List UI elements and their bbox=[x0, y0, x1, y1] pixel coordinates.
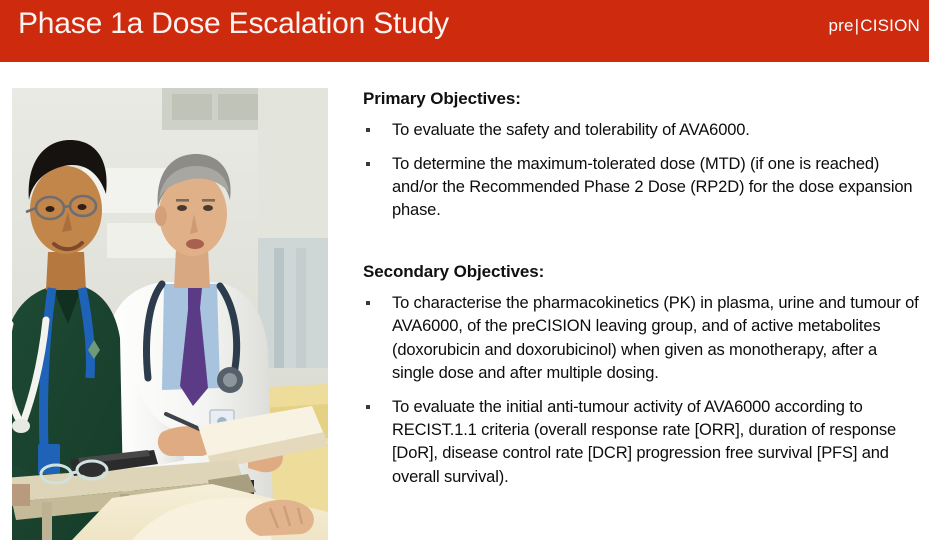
list-item: To characterise the pharmacokinetics (PK… bbox=[363, 292, 923, 386]
secondary-objectives-list: To characterise the pharmacokinetics (PK… bbox=[363, 292, 923, 489]
primary-objectives-list: To evaluate the safety and tolerability … bbox=[363, 119, 923, 223]
precision-logo: pre|CISION bbox=[828, 16, 920, 36]
page-title: Phase 1a Dose Escalation Study bbox=[18, 7, 449, 41]
secondary-objectives-heading: Secondary Objectives: bbox=[363, 261, 923, 283]
objectives-content: Primary Objectives: To evaluate the safe… bbox=[363, 88, 923, 489]
list-item: To determine the maximum-tolerated dose … bbox=[363, 153, 923, 223]
slide: Phase 1a Dose Escalation Study pre|CISIO… bbox=[0, 0, 929, 540]
slide-header: Phase 1a Dose Escalation Study pre|CISIO… bbox=[0, 0, 929, 62]
logo-suffix: CISION bbox=[860, 16, 920, 35]
logo-prefix: pre bbox=[828, 16, 853, 35]
list-item: To evaluate the initial anti-tumour acti… bbox=[363, 396, 923, 490]
list-item: To evaluate the safety and tolerability … bbox=[363, 119, 923, 142]
primary-objectives-heading: Primary Objectives: bbox=[363, 88, 923, 110]
clinical-photo-illustration bbox=[12, 88, 328, 540]
clinical-photo bbox=[12, 88, 328, 540]
